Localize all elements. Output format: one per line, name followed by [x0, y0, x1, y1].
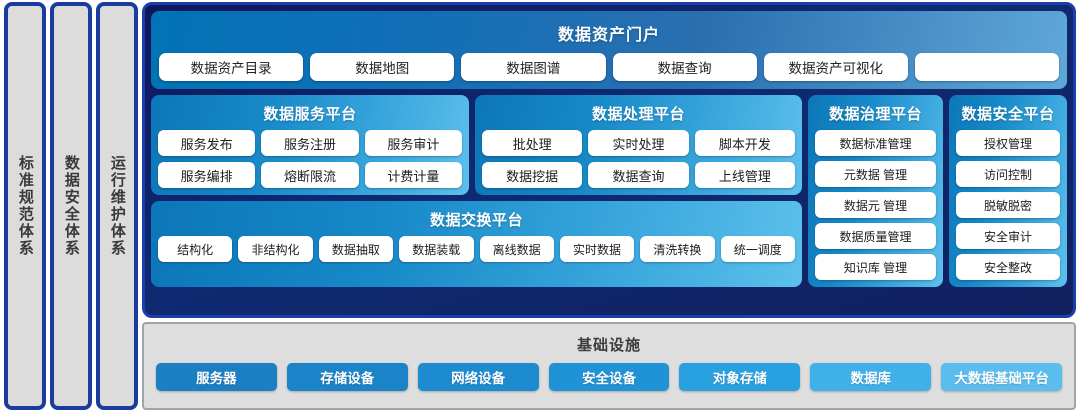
vertical-sidebar-stack: 标准规范体系 数据安全体系 运行维护体系: [0, 0, 142, 412]
infrastructure-section: 基础设施 服务器 存储设备 网络设备 安全设备 对象存储 数据库 大数据基础平台: [142, 322, 1076, 410]
infra-item-security-device[interactable]: 安全设备: [549, 363, 670, 391]
process-platform-panel: 数据处理平台 批处理 实时处理 脚本开发 数据挖据 数据查询 上线管理: [475, 95, 802, 195]
portal-item-visualization[interactable]: 数据资产可视化: [764, 53, 908, 81]
exchange-item-extract[interactable]: 数据抽取: [319, 236, 393, 262]
sidebar-item-label: 标准规范体系: [17, 155, 33, 257]
service-platform-panel: 数据服务平台 服务发布 服务注册 服务审计 服务编排 熔断限流 计费计量: [151, 95, 469, 195]
governance-item-data-quality[interactable]: 数据质量管理: [815, 223, 936, 249]
exchange-item-structured[interactable]: 结构化: [158, 236, 232, 262]
platform-shell: 数据资产门户 数据资产目录 数据地图 数据图谱 数据查询 数据资产可视化: [142, 2, 1076, 318]
process-item-realtime[interactable]: 实时处理: [588, 130, 688, 156]
security-item-rectification[interactable]: 安全整改: [956, 254, 1060, 280]
service-platform-grid: 服务发布 服务注册 服务审计 服务编排 熔断限流 计费计量: [158, 130, 462, 188]
governance-platform-title: 数据治理平台: [815, 100, 936, 130]
service-item-circuit-breaker[interactable]: 熔断限流: [261, 162, 358, 188]
security-platform-title: 数据安全平台: [956, 100, 1060, 130]
exchange-item-realtime[interactable]: 实时数据: [560, 236, 634, 262]
portal-item-empty[interactable]: [915, 53, 1059, 81]
infra-item-network-device[interactable]: 网络设备: [418, 363, 539, 391]
security-platform-panel: 数据安全平台 授权管理 访问控制 脱敏脱密 安全审计 安全整改: [949, 95, 1067, 287]
exchange-item-offline[interactable]: 离线数据: [480, 236, 554, 262]
process-item-release-mgmt[interactable]: 上线管理: [695, 162, 795, 188]
exchange-item-unstructured[interactable]: 非结构化: [238, 236, 312, 262]
portal-item-query[interactable]: 数据查询: [613, 53, 757, 81]
infra-item-storage-device[interactable]: 存储设备: [287, 363, 408, 391]
service-item-publish[interactable]: 服务发布: [158, 130, 255, 156]
architecture-diagram: 标准规范体系 数据安全体系 运行维护体系 数据资产门户 数据资产目录 数据地图 …: [0, 0, 1080, 412]
exchange-item-load[interactable]: 数据装载: [399, 236, 473, 262]
middle-left-top-row: 数据服务平台 服务发布 服务注册 服务审计 服务编排 熔断限流 计费计量: [151, 95, 802, 195]
process-item-query[interactable]: 数据查询: [588, 162, 688, 188]
infra-item-bigdata-platform[interactable]: 大数据基础平台: [941, 363, 1062, 391]
governance-platform-panel: 数据治理平台 数据标准管理 元数据 管理 数据元 管理 数据质量管理 知识库 管…: [808, 95, 943, 287]
governance-item-knowledge-base[interactable]: 知识库 管理: [815, 254, 936, 280]
security-item-masking[interactable]: 脱敏脱密: [956, 192, 1060, 218]
service-platform-title: 数据服务平台: [158, 100, 462, 130]
exchange-platform-grid: 结构化 非结构化 数据抽取 数据装载 离线数据 实时数据 清洗转换 统一调度: [158, 236, 795, 262]
security-item-audit[interactable]: 安全审计: [956, 223, 1060, 249]
sidebar-item-label: 运行维护体系: [109, 155, 125, 257]
portal-item-graph[interactable]: 数据图谱: [461, 53, 605, 81]
governance-item-data-element[interactable]: 数据元 管理: [815, 192, 936, 218]
portal-item-catalog[interactable]: 数据资产目录: [159, 53, 303, 81]
service-item-billing[interactable]: 计费计量: [365, 162, 462, 188]
infra-item-server[interactable]: 服务器: [156, 363, 277, 391]
process-item-batch[interactable]: 批处理: [482, 130, 582, 156]
infra-item-object-storage[interactable]: 对象存储: [679, 363, 800, 391]
exchange-item-scheduling[interactable]: 统一调度: [721, 236, 795, 262]
sidebar-item-standards[interactable]: 标准规范体系: [4, 2, 46, 410]
middle-left-group: 数据服务平台 服务发布 服务注册 服务审计 服务编排 熔断限流 计费计量: [151, 95, 802, 287]
infra-item-database[interactable]: 数据库: [810, 363, 931, 391]
security-item-authorization[interactable]: 授权管理: [956, 130, 1060, 156]
portal-title: 数据资产门户: [159, 17, 1059, 53]
process-platform-title: 数据处理平台: [482, 100, 795, 130]
governance-item-data-standard[interactable]: 数据标准管理: [815, 130, 936, 156]
infrastructure-title: 基础设施: [152, 328, 1066, 363]
service-item-orchestration[interactable]: 服务编排: [158, 162, 255, 188]
sidebar-item-operations[interactable]: 运行维护体系: [96, 2, 138, 410]
security-item-access-control[interactable]: 访问控制: [956, 161, 1060, 187]
middle-band: 数据服务平台 服务发布 服务注册 服务审计 服务编排 熔断限流 计费计量: [151, 95, 1067, 287]
service-item-register[interactable]: 服务注册: [261, 130, 358, 156]
main-column: 数据资产门户 数据资产目录 数据地图 数据图谱 数据查询 数据资产可视化: [142, 0, 1080, 412]
portal-item-map[interactable]: 数据地图: [310, 53, 454, 81]
process-item-script-dev[interactable]: 脚本开发: [695, 130, 795, 156]
governance-item-metadata[interactable]: 元数据 管理: [815, 161, 936, 187]
exchange-platform-title: 数据交换平台: [158, 206, 795, 236]
governance-platform-list: 数据标准管理 元数据 管理 数据元 管理 数据质量管理 知识库 管理: [815, 130, 936, 280]
portal-section: 数据资产门户 数据资产目录 数据地图 数据图谱 数据查询 数据资产可视化: [151, 11, 1067, 89]
exchange-platform-panel: 数据交换平台 结构化 非结构化 数据抽取 数据装载 离线数据 实时数据 清洗转换…: [151, 201, 802, 287]
infrastructure-items-row: 服务器 存储设备 网络设备 安全设备 对象存储 数据库 大数据基础平台: [152, 363, 1066, 391]
portal-items-row: 数据资产目录 数据地图 数据图谱 数据查询 数据资产可视化: [159, 53, 1059, 81]
sidebar-item-label: 数据安全体系: [63, 155, 79, 257]
process-item-mining[interactable]: 数据挖据: [482, 162, 582, 188]
security-platform-list: 授权管理 访问控制 脱敏脱密 安全审计 安全整改: [956, 130, 1060, 280]
exchange-item-cleansing[interactable]: 清洗转换: [640, 236, 714, 262]
service-item-audit[interactable]: 服务审计: [365, 130, 462, 156]
process-platform-grid: 批处理 实时处理 脚本开发 数据挖据 数据查询 上线管理: [482, 130, 795, 188]
sidebar-item-data-security[interactable]: 数据安全体系: [50, 2, 92, 410]
